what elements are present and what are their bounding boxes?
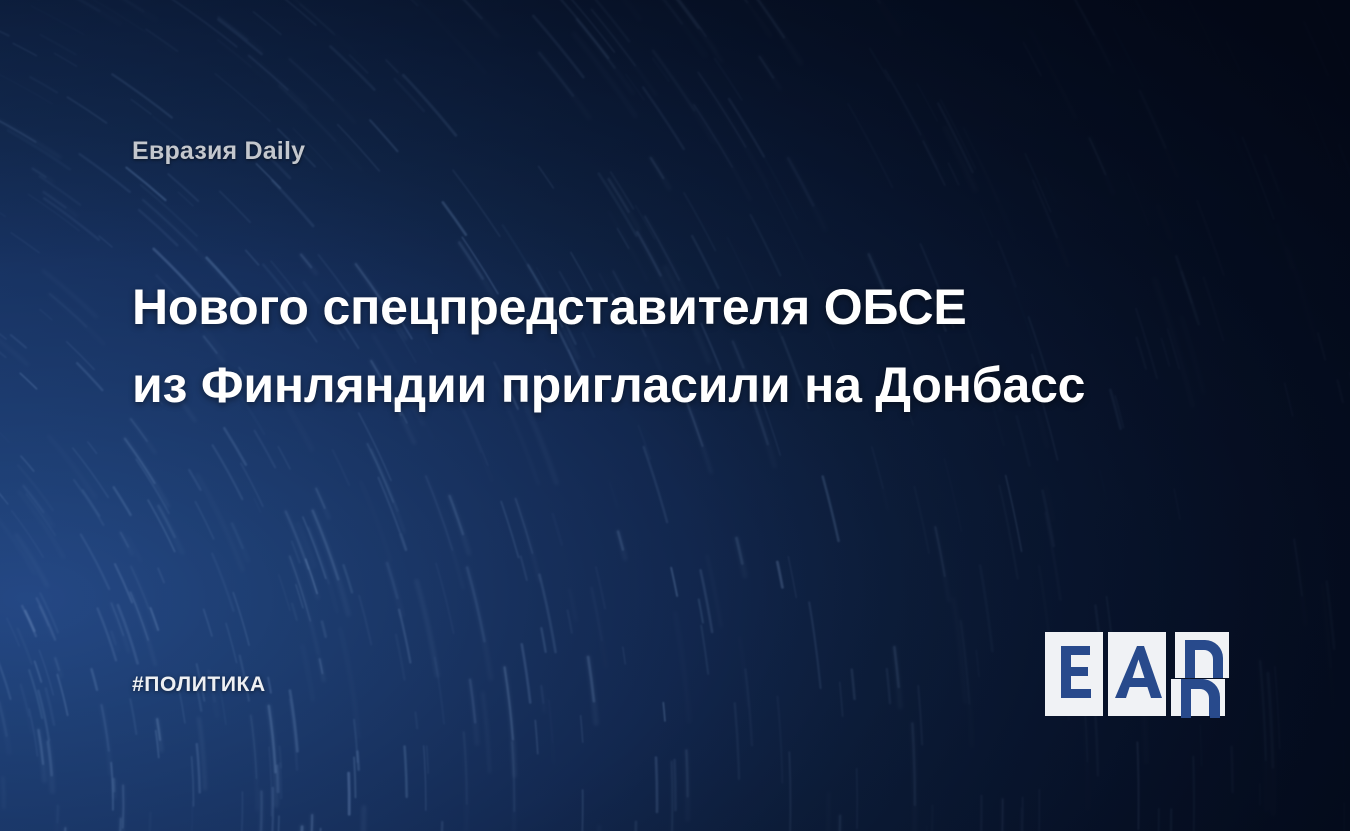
card-content: Евразия Daily Нового спецпредставителя О… — [0, 0, 1350, 831]
ead-logo — [1044, 624, 1230, 724]
news-card: Евразия Daily Нового спецпредставителя О… — [0, 0, 1350, 831]
logo-glyph-e — [1061, 646, 1091, 698]
headline: Нового спецпредставителя ОБСЕ из Финлянд… — [132, 268, 1222, 424]
logo-tile-a — [1108, 632, 1166, 716]
headline-line-1: Нового спецпредставителя ОБСЕ — [132, 268, 1222, 346]
headline-line-2: из Финляндии пригласили на Донбасс — [132, 346, 1222, 424]
publisher-name: Евразия Daily — [132, 137, 305, 166]
category-tag: #ПОЛИТИКА — [132, 673, 266, 697]
